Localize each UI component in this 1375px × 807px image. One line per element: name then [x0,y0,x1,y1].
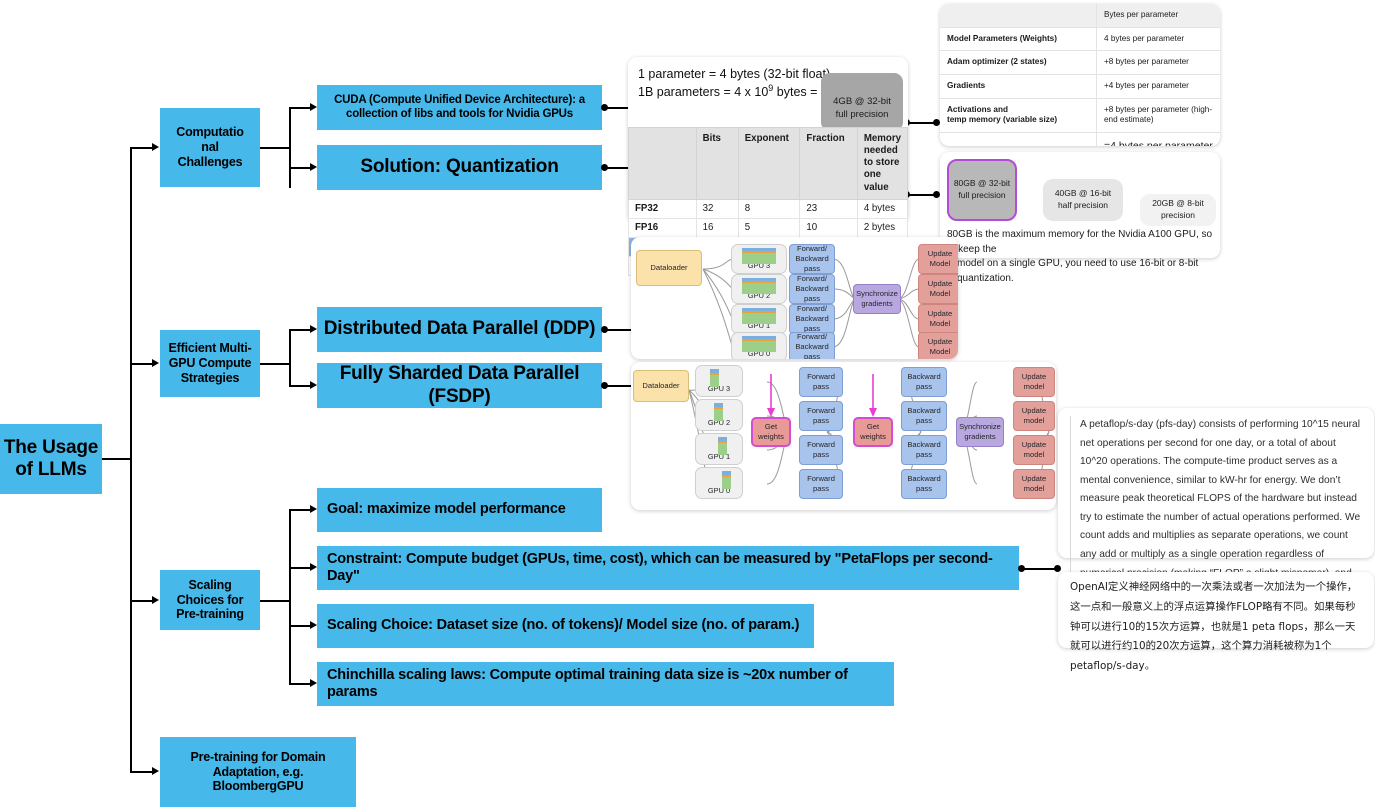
branch-label-line3: Strategies [181,371,239,386]
table-row: Model Parameters (Weights) 4 bytes per p… [940,27,1220,51]
branch-label-line2: Adaptation, e.g. [213,765,304,780]
arrow-sc-child2 [310,563,317,571]
gpu-bar-green [742,341,776,352]
memory-note: 80GB is the maximum memory for the Nvidi… [947,228,1217,286]
table-row: FP16 16 5 10 2 bytes [629,218,908,237]
chip-20gb-line1: 20GB @ 8-bit [1152,198,1204,210]
ddp-update-model-2: Update Model [918,274,958,304]
backward-line1: Backward [907,474,940,484]
bpp-label-line1: Activations and [947,105,1089,116]
branch-computational-challenges[interactable]: Computatio nal Challenges [160,108,260,187]
fsdp-update-line2: model [1024,484,1045,494]
connector-emg-vert [289,330,291,386]
arrowhead-2 [869,408,877,417]
memory-note-line2: model on a single GPU, you need to use 1… [947,257,1217,286]
gpu-bar-green [710,375,719,387]
ddp-update-line2: Model [930,289,951,299]
fsdp-gpu-1: GPU 1 [695,433,743,465]
cell-name: FP16 [629,218,697,237]
table-header-row: Bytes per parameter [940,4,1220,27]
cell-exponent: 8 [738,199,800,218]
ddp-update-model-1: Update Model [918,304,958,334]
th-memory: Memory needed to store one value [857,128,907,200]
arrow-emg-child1 [310,325,317,333]
fsdp-update-model-2: Update model [1013,401,1055,431]
ddp-update-line2: Model [930,259,951,269]
bpp-total-line1: =4 bytes per parameter [1104,139,1213,146]
quantization-line2-pre: 1B parameters = 4 x 10 [638,85,768,99]
bpp-total-label: TOTAL [940,132,1097,146]
bpp-label-line2: temp memory (variable size) [947,115,1089,126]
chip-4gb-line2: full precision [836,109,889,122]
ddp-gpu-1: GPU 1 [731,304,787,334]
connector-cc-child1 [289,107,311,109]
chip-80gb-line1: 80GB @ 32-bit [954,178,1010,190]
branch-label-line3: BloombergGPU [213,779,304,794]
chinese-panel: OpenAI定义神经网络中的一次乘法或者一次加法为一个操作，这一点和一般意义上的… [1058,572,1374,648]
chip-80gb-32bit: 80GB @ 32-bit full precision [947,159,1017,221]
fsdp-update-line1: Update [1022,372,1047,382]
memory-precision-card: 80GB @ 32-bit full precision 40GB @ 16-b… [940,152,1220,258]
ddp-update-model-0: Update Model [918,332,958,359]
chip-4gb-32bit: 4GB @ 32-bit full precision [821,73,903,131]
fsdp-backward-pass-0: Backward pass [901,469,947,499]
leaf-scaling-choice[interactable]: Scaling Choice: Dataset size (no. of tok… [317,604,814,648]
leaf-goal-label: Goal: maximize model performance [327,501,566,518]
branch-pretraining-domain[interactable]: Pre-training for Domain Adaptation, e.g.… [160,737,356,807]
ddp-dataloader-label: Dataloader [650,263,687,273]
table-total-row: TOTAL =4 bytes per parameter +20 extra b… [940,132,1220,146]
ddp-pass-line1: Forward/ [797,304,827,314]
leaf-goal[interactable]: Goal: maximize model performance [317,488,602,532]
arrowhead-1 [767,408,775,417]
ddp-gpu-3: GPU 3 [731,244,787,274]
fsdp-gpu-0: GPU 0 [695,467,743,499]
connector-emg-child2 [289,385,311,387]
ddp-update-line1: Update [928,249,953,259]
cell-fraction: 10 [800,218,857,237]
ddp-sync-line2: gradients [861,299,892,309]
cell-memory: 4 bytes [857,199,907,218]
branch-label-line1: Scaling [188,578,231,593]
bpp-label: Gradients [940,74,1097,98]
gpu-bar-green [742,283,776,294]
get-weights-line1: Get [867,422,879,432]
branch-label-line3: Pre-training [176,607,244,622]
backward-line2: pass [916,450,932,460]
table-row: Gradients +4 bytes per parameter [940,74,1220,98]
fsdp-backward-pass-1: Backward pass [901,435,947,465]
leaf-ddp[interactable]: Distributed Data Parallel (DDP) [317,307,602,352]
link-dot-mem-left [933,191,940,198]
ddp-pass-2: Forward/ Backward pass [789,274,835,304]
fsdp-update-model-3: Update model [1013,367,1055,397]
fsdp-update-model-0: Update model [1013,469,1055,499]
ddp-update-line2: Model [930,347,951,357]
fsdp-get-weights-2: Get weights [853,417,893,447]
arrow-computational [152,143,159,151]
forward-line1: Forward [807,372,835,382]
connector-sc-stem [260,600,290,602]
fsdp-dataloader-label: Dataloader [642,381,679,391]
leaf-quantization[interactable]: Solution: Quantization [317,145,602,190]
backward-line1: Backward [907,440,940,450]
forward-line1: Forward [807,406,835,416]
ddp-update-line1: Update [928,337,953,347]
fsdp-forward-pass-1: Forward pass [799,435,843,465]
connector-sc-child3 [289,625,311,627]
fsdp-sync-line1: Synchronize [959,422,1001,432]
bpp-label: Adam optimizer (2 states) [940,51,1097,75]
link-dot-panel-left [1054,565,1061,572]
cell-bits: 32 [696,199,738,218]
branch-label-line3: Challenges [178,155,243,170]
bpp-label: Model Parameters (Weights) [940,27,1097,51]
connector-cc-stem [260,147,290,149]
th-memory-line1: Memory needed [864,133,901,157]
bpp-total-value: =4 bytes per parameter +20 extra bytes p… [1097,132,1221,146]
connector-sc-child1 [289,509,311,511]
fsdp-update-model-1: Update model [1013,435,1055,465]
chip-40gb-line1: 40GB @ 16-bit [1055,188,1111,200]
link-dot-bpp-left [933,119,940,126]
connector-sc-child2 [289,567,311,569]
backward-line2: pass [916,382,932,392]
connector-sc-vert [289,510,291,684]
get-weights-line2: weights [758,432,784,442]
table-row: Adam optimizer (2 states) +8 bytes per p… [940,51,1220,75]
gpu-bar-green [742,253,776,264]
branch-efficient-multi-gpu[interactable]: Efficient Multi- GPU Compute Strategies [160,330,260,397]
arrow-efficient [152,359,159,367]
fsdp-update-line1: Update [1022,440,1047,450]
fsdp-backward-pass-2: Backward pass [901,401,947,431]
connector-emg-stem [260,363,290,365]
ddp-update-line1: Update [928,309,953,319]
bpp-header-blank [940,4,1097,27]
bytes-per-parameter-table: Bytes per parameter Model Parameters (We… [940,4,1220,146]
fsdp-forward-pass-3: Forward pass [799,367,843,397]
backward-line1: Backward [907,372,940,382]
fsdp-forward-pass-0: Forward pass [799,469,843,499]
arrow-sc-child1 [310,505,317,513]
leaf-cuda[interactable]: CUDA (Compute Unified Device Architectur… [317,85,602,130]
chip-40gb-line2: half precision [1058,200,1108,212]
fsdp-get-weights-1: Get weights [751,417,791,447]
fsdp-dataloader: Dataloader [633,370,689,402]
root-node-line2: of LLMs [15,459,86,481]
gpu-bar-green [718,443,727,455]
ddp-update-model-3: Update Model [918,244,958,274]
ddp-pass-3: Forward/ Backward pass [789,244,835,274]
backward-line1: Backward [907,406,940,416]
forward-line1: Forward [807,474,835,484]
connector-cc-vert [289,108,291,188]
bpp-value: +4 bytes per parameter [1097,74,1221,98]
forward-line2: pass [813,484,829,494]
arrow-cc-child2 [310,163,317,171]
leaf-fsdp-label: Fully Sharded Data Parallel (FSDP) [317,363,602,408]
forward-line2: pass [813,416,829,426]
cell-bits: 16 [696,218,738,237]
connector-trunk-computational [130,147,153,149]
ddp-pass-line2: Backward pass [790,314,834,334]
arrow-scaling [152,596,159,604]
th-exponent: Exponent [738,128,800,200]
table-row: Activations and temp memory (variable si… [940,98,1220,132]
chip-20gb-line2: precision [1161,210,1195,222]
bpp-header-value: Bytes per parameter [1097,4,1221,27]
leaf-quantization-label: Solution: Quantization [360,156,558,178]
ddp-pass-line1: Forward/ [797,244,827,254]
quantization-line2: 1B parameters = 4 x 109 bytes = 4GB [638,82,846,102]
cell-fraction: 23 [800,199,857,218]
ddp-diagram-card: Dataloader GPU 3 GPU 2 GPU 1 GPU 0 [631,237,958,359]
fsdp-update-line2: model [1024,416,1045,426]
branch-label-line1: Efficient Multi- [169,341,252,356]
ddp-synchronize-gradients: Synchronize gradients [853,284,901,314]
connector-trunk-efficient [130,363,153,365]
get-weights-line2: weights [860,432,886,442]
th-blank [629,128,697,200]
leaf-fsdp[interactable]: Fully Sharded Data Parallel (FSDP) [317,363,602,408]
fsdp-update-line2: model [1024,382,1045,392]
ddp-sync-line1: Synchronize [856,289,898,299]
ddp-pass-0: Forward/ Backward pass [789,332,835,359]
fsdp-gpu-2: GPU 2 [695,399,743,431]
connector-emg-child1 [289,329,311,331]
ddp-pass-line2: Backward pass [790,284,834,304]
ddp-update-line1: Update [928,279,953,289]
ddp-pass-line1: Forward/ [797,274,827,284]
bpp-value: 4 bytes per parameter [1097,27,1221,51]
get-weights-line1: Get [765,422,777,432]
ddp-update-line2: Model [930,319,951,329]
branch-label-line1: Computatio [176,125,243,140]
th-bits: Bits [696,128,738,200]
branch-label-line2: nal [201,140,218,155]
bpp-value: +8 bytes per parameter [1097,51,1221,75]
root-node[interactable]: The Usage of LLMs [0,424,102,494]
fsdp-update-line2: model [1024,450,1045,460]
connector-trunk-vertical [130,148,132,773]
chip-20gb-8bit: 20GB @ 8-bit precision [1140,194,1216,226]
branch-label-line2: GPU Compute [169,356,252,371]
leaf-constraint-label: Constraint: Compute budget (GPUs, time, … [327,551,1019,585]
forward-line2: pass [813,450,829,460]
memory-note-line1: 80GB is the maximum memory for the Nvidi… [947,228,1217,257]
ddp-pass-line2: Backward pass [790,254,834,274]
table-row: FP32 32 8 23 4 bytes [629,199,908,218]
arrow-emg-child2 [310,381,317,389]
ddp-dataloader: Dataloader [636,250,702,286]
branch-label-line1: Pre-training for Domain [191,750,326,765]
chip-40gb-16bit: 40GB @ 16-bit half precision [1043,179,1123,221]
gpu-bar-green [742,313,776,324]
fsdp-synchronize-gradients: Synchronize gradients [956,417,1004,447]
arrow-sc-child3 [310,621,317,629]
ddp-pass-line2: Backward pass [790,342,834,359]
link-constraint-to-panel [1024,568,1056,570]
pfs-day-panel: A petaflop/s-day (pfs-day) consists of p… [1058,408,1374,558]
arrow-pretraining [152,767,159,775]
ddp-gpu-0: GPU 0 [731,332,787,359]
bpp-value: +8 bytes per parameter (high-end estimat… [1097,98,1221,132]
bytes-per-parameter-card: Bytes per parameter Model Parameters (We… [940,4,1220,146]
leaf-chinchilla[interactable]: Chinchilla scaling laws: Compute optimal… [317,662,894,706]
arrow-sc-child4 [310,679,317,687]
leaf-chinchilla-label: Chinchilla scaling laws: Compute optimal… [327,667,894,701]
bpp-label-multiline: Activations and temp memory (variable si… [940,98,1097,132]
leaf-scaling-choice-label: Scaling Choice: Dataset size (no. of tok… [327,617,799,634]
backward-line2: pass [916,416,932,426]
chip-4gb-line1: 4GB @ 32-bit [833,96,891,109]
leaf-constraint[interactable]: Constraint: Compute budget (GPUs, time, … [317,546,1019,590]
ddp-gpu-2: GPU 2 [731,274,787,304]
cell-name: FP32 [629,199,697,218]
branch-scaling-choices[interactable]: Scaling Choices for Pre-training [160,570,260,630]
branch-label-line2: Choices for [177,593,244,608]
forward-line1: Forward [807,440,835,450]
fsdp-gpu-3: GPU 3 [695,365,743,397]
forward-line2: pass [813,382,829,392]
cell-exponent: 5 [738,218,800,237]
fsdp-diagram-card: Dataloader GPU 3 GPU 2 GPU 1 GPU 0 [631,362,1056,510]
fsdp-update-line1: Update [1022,406,1047,416]
fsdp-backward-pass-3: Backward pass [901,367,947,397]
root-node-line1: The Usage [4,437,98,459]
ddp-pass-line1: Forward/ [797,332,827,342]
connector-sc-child4 [289,683,311,685]
fsdp-sync-line2: gradients [964,432,995,442]
quantization-line1: 1 parameter = 4 bytes (32-bit float) [638,65,830,84]
fsdp-update-line1: Update [1022,474,1047,484]
th-fraction: Fraction [800,128,857,200]
connector-root-trunk [102,458,131,460]
arrow-cc-child1 [310,103,317,111]
gpu-bar-green [722,477,731,489]
backward-line2: pass [916,484,932,494]
th-memory-line2: to store one value [864,157,901,193]
connector-trunk-scaling [130,600,153,602]
leaf-cuda-label: CUDA (Compute Unified Device Architectur… [325,94,594,121]
chinese-text: OpenAI定义神经网络中的一次乘法或者一次加法为一个操作，这一点和一般意义上的… [1070,578,1364,677]
chip-80gb-line2: full precision [958,190,1005,202]
cell-memory: 2 bytes [857,218,907,237]
gpu-bar-green [714,409,723,421]
fsdp-forward-pass-2: Forward pass [799,401,843,431]
leaf-ddp-label: Distributed Data Parallel (DDP) [324,318,595,340]
quantization-card: 1 parameter = 4 bytes (32-bit float) 1B … [628,57,908,223]
table-header-row: Bits Exponent Fraction Memory needed to … [629,128,908,200]
connector-trunk-pretraining [130,771,153,773]
connector-cc-child2 [289,167,311,169]
ddp-pass-1: Forward/ Backward pass [789,304,835,334]
